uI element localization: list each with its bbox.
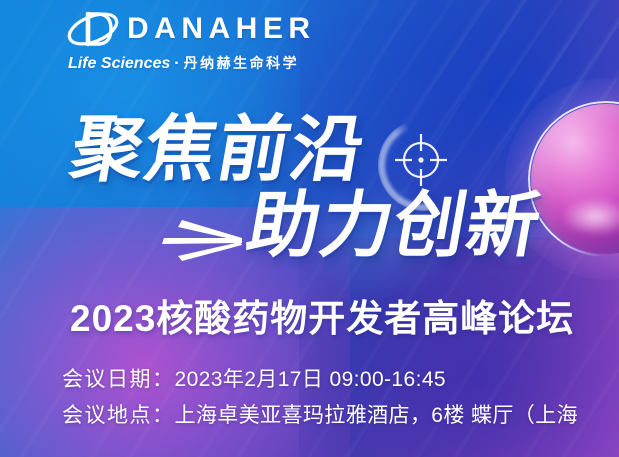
headline-line-2: 助力创新 [242,190,547,262]
headline-line-1: 聚焦前沿 [66,114,371,186]
crosshair-target-icon [390,129,452,191]
sphere-rim [528,101,619,257]
event-poster: DANAHER Life Sciences·丹纳赫生命科学 聚焦前沿 助力创新 … [0,0,619,457]
event-details: 会议日期：2023年2月17日 09:00-16:45 会议地点：上海卓美亚喜玛… [62,362,578,434]
brand-tagline-separator: · [170,55,183,72]
detail-line-date: 会议日期：2023年2月17日 09:00-16:45 [62,362,578,398]
headline-group: 聚焦前沿 助力创新 [0,108,619,278]
sphere-halo [505,78,619,280]
brand-logo: DANAHER Life Sciences·丹纳赫生命科学 [66,9,356,73]
detail-label-venue: 会议地点： [62,404,175,427]
brand-tagline-en: Life Sciences [68,55,170,72]
brand-tagline-cn: 丹纳赫生命科学 [184,55,300,71]
brand-tagline: Life Sciences·丹纳赫生命科学 [66,53,356,73]
brand-wordmark: DANAHER [127,14,316,44]
background-glow-left [300,180,460,300]
event-subtitle: 2023核酸药物开发者高峰论坛 [70,288,574,342]
detail-line-venue: 会议地点：上海卓美亚喜玛拉雅酒店，6楼 蝶厅（上海 [62,398,578,434]
detail-value-venue: 上海卓美亚喜玛拉雅酒店，6楼 蝶厅（上海 [175,404,579,427]
arrow-right-icon [152,216,244,264]
target-glow-arc [378,119,470,211]
detail-value-date: 2023年2月17日 09:00-16:45 [175,368,446,391]
pink-glowing-sphere [531,104,619,254]
background-light-streaks-accent [359,0,619,250]
danaher-d-ellipse-logo-icon [66,10,120,48]
sphere-highlight [561,197,619,236]
background-glow-right [480,205,550,265]
detail-label-date: 会议日期： [62,368,175,391]
sphere-body [531,104,619,254]
